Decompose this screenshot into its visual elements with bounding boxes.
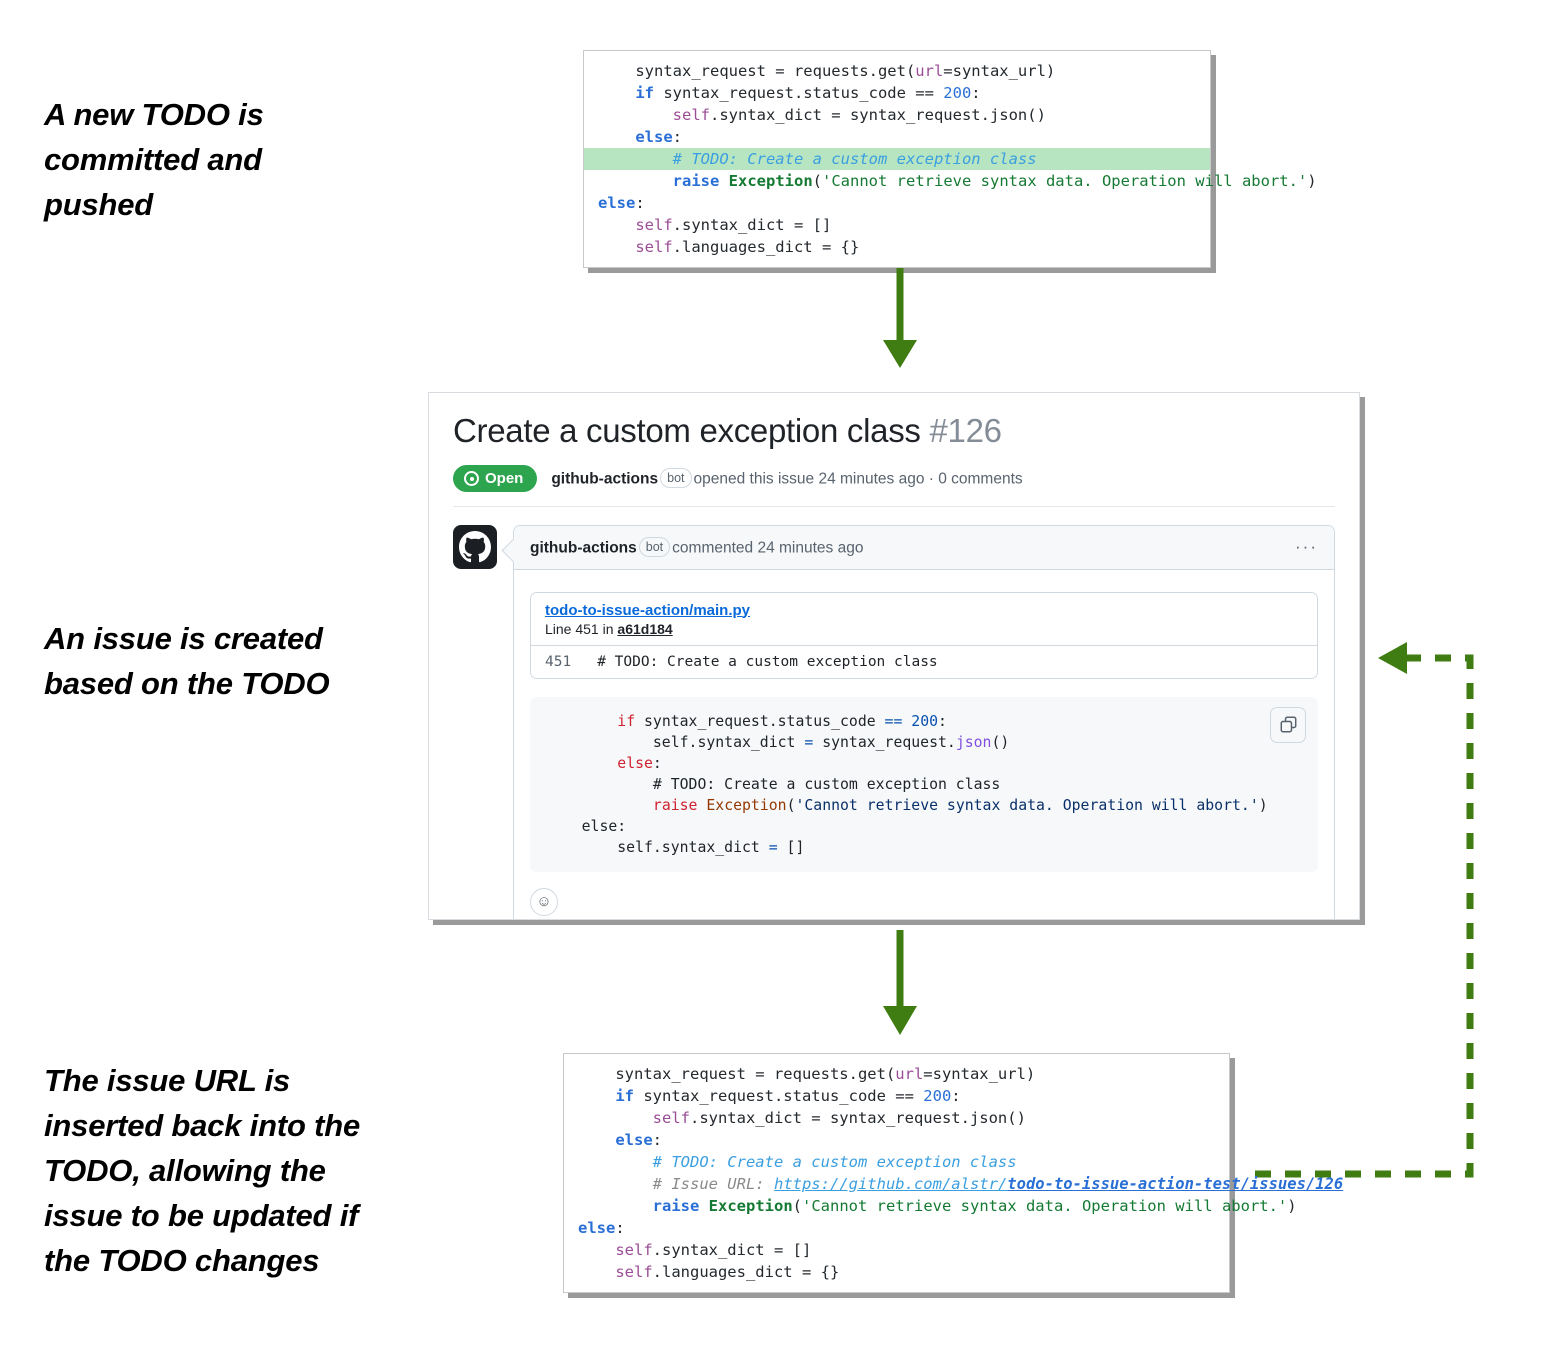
caption-step-1: A new TODO is committed and pushed — [44, 92, 374, 227]
issue-meta-suffix: opened this issue 24 minutes ago · 0 com… — [694, 471, 1023, 488]
commit-sha-link[interactable]: a61d184 — [617, 621, 672, 637]
snippet-line: # TODO: Create a custom exception class — [546, 774, 1302, 795]
issue-author[interactable]: github-actions — [551, 471, 658, 488]
page-title: Create a custom exception class #126 — [453, 411, 1335, 451]
file-reference-panel: todo-to-issue-action/main.py Line 451 in… — [530, 592, 1318, 679]
code-line: else: — [584, 192, 1210, 214]
arrow-down-1 — [870, 268, 930, 373]
snippet-line: else: — [546, 816, 1302, 837]
file-reference-header: todo-to-issue-action/main.py Line 451 in… — [531, 593, 1317, 645]
code-block-before: syntax_request = requests.get(url=syntax… — [583, 50, 1211, 268]
file-path-link[interactable]: todo-to-issue-action/main.py — [545, 602, 1303, 619]
code-line: raise Exception('Cannot retrieve syntax … — [584, 170, 1210, 192]
comment-bot-tag: bot — [639, 537, 670, 557]
code-line: else: — [584, 126, 1210, 148]
code-line: # TODO: Create a custom exception class — [564, 1151, 1229, 1173]
code-line: if syntax_request.status_code == 200: — [584, 82, 1210, 104]
code-line: if syntax_request.status_code == 200: — [564, 1085, 1229, 1107]
code-line-todo-highlight: # TODO: Create a custom exception class — [584, 148, 1210, 170]
status-badge-label: Open — [485, 470, 523, 487]
file-line-label: Line 451 in a61d184 — [545, 621, 1303, 637]
issue-url-path[interactable]: todo-to-issue-action-test/issues/126 — [1007, 1175, 1343, 1193]
file-reference-code-line: 451# TODO: Create a custom exception cla… — [531, 645, 1317, 678]
code-line: self.syntax_dict = [] — [584, 214, 1210, 236]
add-reaction-button[interactable]: ☺ — [530, 888, 558, 916]
snippet-line: else: — [546, 753, 1302, 774]
code-line: self.languages_dict = {} — [564, 1261, 1229, 1283]
issue-open-icon — [464, 471, 479, 486]
comment-header: github-actionsbotcommented 24 minutes ag… — [514, 526, 1334, 570]
code-line: self.languages_dict = {} — [584, 236, 1210, 258]
issue-number: #126 — [929, 412, 1001, 449]
status-badge[interactable]: Open — [453, 465, 537, 492]
issue-meta-row: Open github-actionsbotopened this issue … — [453, 465, 1335, 492]
avatar[interactable] — [453, 525, 497, 569]
snippet-line: raise Exception('Cannot retrieve syntax … — [546, 795, 1302, 816]
snippet-line: self.syntax_dict = [] — [546, 837, 1302, 858]
comment-author[interactable]: github-actions — [530, 540, 637, 557]
arrow-down-2 — [870, 930, 930, 1040]
code-block-after: syntax_request = requests.get(url=syntax… — [563, 1053, 1230, 1293]
line-label-prefix: Line 451 in — [545, 621, 617, 637]
code-line: else: — [564, 1217, 1229, 1239]
issue-byline: github-actionsbotopened this issue 24 mi… — [551, 468, 1022, 489]
smiley-icon: ☺ — [536, 893, 551, 910]
bot-tag: bot — [660, 468, 691, 488]
kebab-menu-icon[interactable]: ··· — [1295, 537, 1318, 557]
code-line: self.syntax_dict = syntax_request.json() — [564, 1107, 1229, 1129]
line-code-text: # TODO: Create a custom exception class — [597, 654, 937, 670]
comment-body: todo-to-issue-action/main.py Line 451 in… — [514, 570, 1334, 921]
comment-action: commented 24 minutes ago — [672, 540, 863, 557]
code-line: syntax_request = requests.get(url=syntax… — [564, 1063, 1229, 1085]
code-snippet: if syntax_request.status_code == 200: se… — [530, 697, 1318, 872]
issue-url-prefix[interactable]: https://github.com/alstr/ — [774, 1175, 1007, 1193]
caption-step-3: The issue URL is inserted back into the … — [44, 1058, 404, 1283]
issue-header: Create a custom exception class #126 Ope… — [429, 393, 1359, 492]
issue-title-text: Create a custom exception class — [453, 412, 921, 449]
code-line: self.syntax_dict = [] — [564, 1239, 1229, 1261]
line-number: 451 — [545, 654, 571, 670]
code-line: syntax_request = requests.get(url=syntax… — [584, 60, 1210, 82]
snippet-line: self.syntax_dict = syntax_request.json() — [546, 732, 1302, 753]
code-line: self.syntax_dict = syntax_request.json() — [584, 104, 1210, 126]
code-line: else: — [564, 1129, 1229, 1151]
code-line: raise Exception('Cannot retrieve syntax … — [564, 1195, 1229, 1217]
github-octocat-icon — [459, 531, 491, 563]
comment-box: github-actionsbotcommented 24 minutes ag… — [513, 525, 1335, 920]
caption-step-2: An issue is created based on the TODO — [44, 616, 384, 706]
snippet-line: if syntax_request.status_code == 200: — [546, 711, 1302, 732]
code-line-issue-url: # Issue URL: https://github.com/alstr/to… — [564, 1173, 1229, 1195]
feedback-arrow-dashed — [1215, 640, 1505, 1200]
